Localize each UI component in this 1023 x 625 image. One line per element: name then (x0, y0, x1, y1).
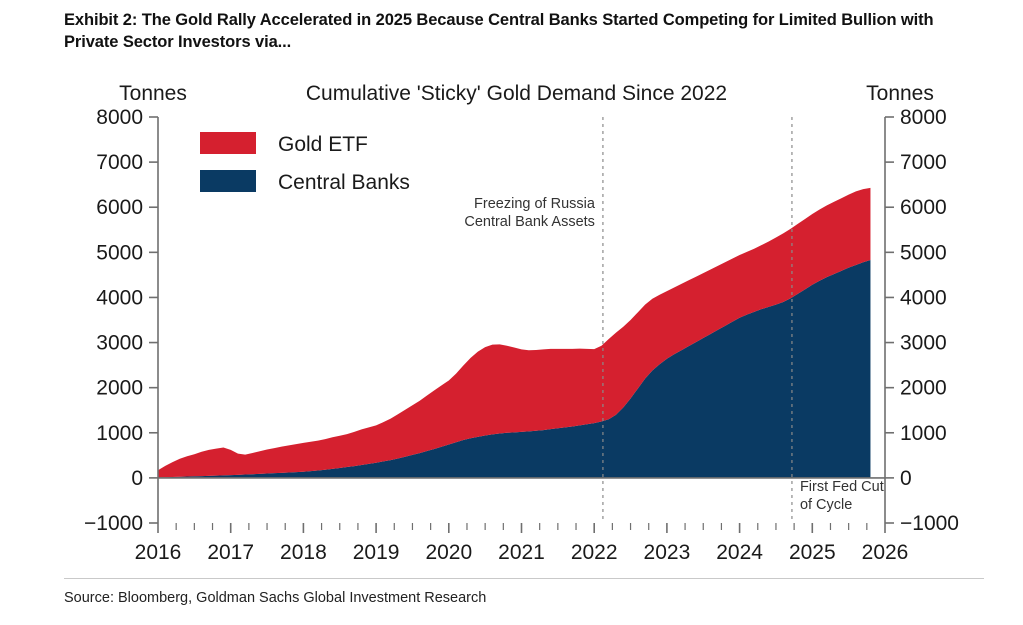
y-tick-label-right: 8000 (900, 106, 947, 129)
y-tick-label-left: −1000 (84, 512, 143, 535)
y-tick-label-left: 5000 (96, 241, 143, 264)
x-axis-ticks: 2016201720182019202020212022202320242025… (135, 523, 909, 564)
legend-label-central-banks: Central Banks (278, 171, 410, 194)
x-tick-label: 2018 (280, 541, 327, 564)
chart-series-group (158, 188, 870, 478)
footer-divider (64, 578, 984, 579)
y-tick-label-left: 6000 (96, 196, 143, 219)
y-tick-label-left: 7000 (96, 151, 143, 174)
y-tick-label-right: 0 (900, 467, 912, 490)
y-tick-label-right: 4000 (900, 286, 947, 309)
x-tick-label: 2017 (207, 541, 254, 564)
x-tick-label: 2023 (644, 541, 691, 564)
y-tick-label-left: 8000 (96, 106, 143, 129)
y-tick-label-left: 4000 (96, 286, 143, 309)
x-tick-label: 2019 (353, 541, 400, 564)
annotation-first-fed-cut-line1: First Fed Cut (800, 479, 884, 495)
right-axis-unit-label: Tonnes (866, 82, 934, 105)
x-tick-label: 2022 (571, 541, 618, 564)
x-tick-label: 2026 (862, 541, 909, 564)
page-title: Exhibit 2: The Gold Rally Accelerated in… (64, 10, 984, 54)
stacked-area-chart: TonnesTonnesCumulative 'Sticky' Gold Dem… (0, 72, 1023, 572)
y-tick-label-right: 3000 (900, 332, 947, 355)
x-tick-label: 2024 (716, 541, 763, 564)
y-tick-label-right: 6000 (900, 196, 947, 219)
source-note: Source: Bloomberg, Goldman Sachs Global … (64, 590, 486, 606)
x-tick-label: 2020 (425, 541, 472, 564)
y-tick-label-right: 2000 (900, 377, 947, 400)
chart-container: TonnesTonnesCumulative 'Sticky' Gold Dem… (0, 72, 1023, 572)
y-tick-label-left: 1000 (96, 422, 143, 445)
y-tick-label-right: −1000 (900, 512, 959, 535)
annotation-russia-freeze-line1: Freezing of Russia (474, 196, 596, 212)
chart-subtitle: Cumulative 'Sticky' Gold Demand Since 20… (306, 82, 727, 105)
y-tick-label-right: 7000 (900, 151, 947, 174)
y-tick-label-left: 2000 (96, 377, 143, 400)
y-tick-label-left: 3000 (96, 332, 143, 355)
left-axis-unit-label: Tonnes (119, 82, 187, 105)
legend-swatch-central-banks (200, 170, 256, 192)
legend-swatch-gold-etf (200, 132, 256, 154)
exhibit-page: Exhibit 2: The Gold Rally Accelerated in… (0, 0, 1023, 625)
chart-legend: Gold ETFCentral Banks (200, 132, 410, 194)
legend-label-gold-etf: Gold ETF (278, 133, 368, 156)
y-tick-label-right: 1000 (900, 422, 947, 445)
x-tick-label: 2025 (789, 541, 836, 564)
x-tick-label: 2016 (135, 541, 182, 564)
y-tick-label-right: 5000 (900, 241, 947, 264)
x-tick-label: 2021 (498, 541, 545, 564)
y-tick-label-left: 0 (131, 467, 143, 490)
annotation-first-fed-cut-line2: of Cycle (800, 497, 852, 513)
annotation-russia-freeze-line2: Central Bank Assets (464, 214, 595, 230)
